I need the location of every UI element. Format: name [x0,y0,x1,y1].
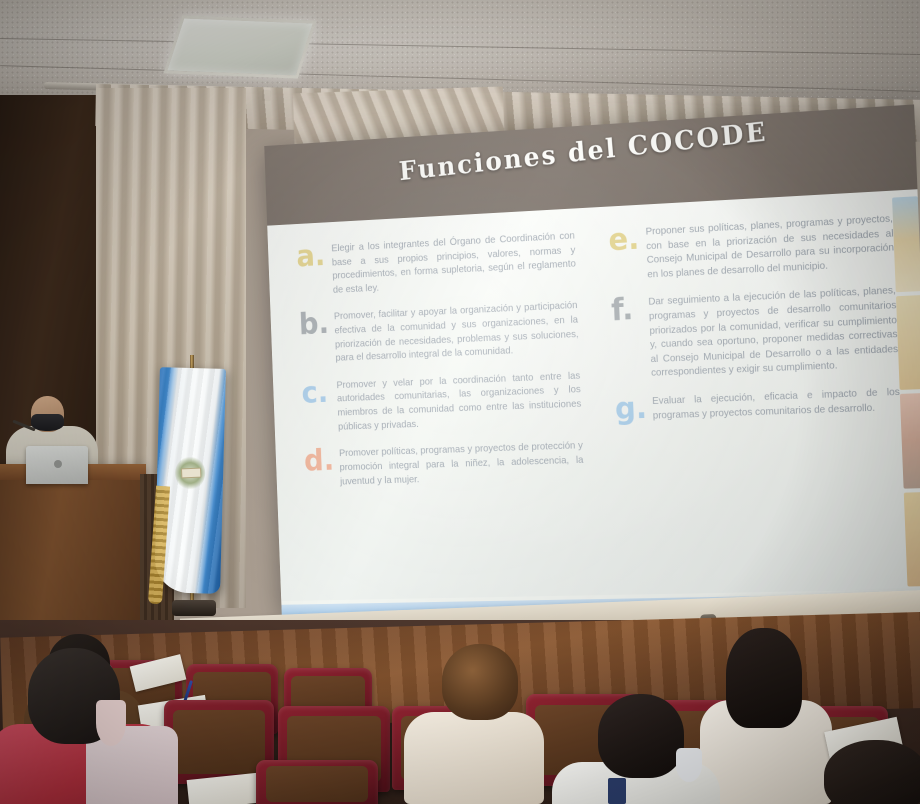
illustration-card [904,491,920,586]
attendee-head [442,644,518,720]
item-text-d: Promover políticas, programas y proyecto… [339,440,584,490]
auditorium-photo: Funciones del COCODE a. Elegir a los int… [0,0,920,804]
attendee-head [598,694,684,778]
face-mask-icon [96,700,126,746]
presentation-slide: Funciones del COCODE a. Elegir a los int… [264,104,920,615]
right-column: e. Proponer sus políticas, planes, progr… [584,212,918,595]
face-mask-icon [31,414,64,431]
attendee-body [404,712,544,804]
seat-cushion [173,710,265,774]
projection-screen: Funciones del COCODE a. Elegir a los int… [264,104,920,615]
item-text-b: Promover, facilitar y apoyar la organiza… [334,300,580,367]
podium [0,464,146,634]
laptop [26,446,88,484]
list-item: b. Promover, facilitar y apoyar la organ… [299,300,580,368]
item-text-a: Elegir a los integrantes del Órgano de C… [331,230,577,298]
face-mask-icon [676,748,702,782]
crest-scroll [181,468,201,479]
bullet-letter-g: g. [615,395,654,425]
item-text-g: Evaluar la ejecución, eficacia e impacto… [652,386,901,424]
illustration-card [900,393,920,488]
list-item: a. Elegir a los integrantes del Órgano d… [296,230,577,300]
list-item: g. Evaluar la ejecución, eficacia e impa… [615,386,901,425]
list-item: e. Proponer sus políticas, planes, progr… [608,213,895,285]
bullet-letter-f: f. [611,296,652,383]
bullet-letter-c: c. [301,380,338,436]
left-column: a. Elegir a los integrantes del Órgano d… [284,229,598,600]
item-text-f: Dar seguimiento a la ejecución de las po… [648,285,899,382]
illustration-card [892,196,920,292]
item-text-c: Promover y velar por la coordinación tan… [336,370,582,435]
bullet-letter-e: e. [608,226,648,285]
lanyard [608,778,626,804]
attendee-head [824,740,920,804]
item-text-e: Proponer sus políticas, planes, programa… [645,213,895,283]
list-item: c. Promover y velar por la coordinación … [301,370,582,436]
list-item: f. Dar seguimiento a la ejecución de las… [611,285,899,383]
illustration-card [896,295,920,390]
laptop-logo-icon [54,460,62,468]
ceiling-light-panel [163,15,316,78]
seat-cushion [266,766,368,802]
bullet-letter-d: d. [304,448,341,490]
slide-body: a. Elegir a los integrantes del Órgano d… [267,189,920,601]
bullet-letter-a: a. [296,243,333,300]
seat [256,760,378,804]
flag-base [172,600,216,616]
attendee-head [726,628,802,728]
list-item: d. Promover políticas, programas y proye… [304,440,585,491]
bullet-letter-b: b. [299,311,336,368]
